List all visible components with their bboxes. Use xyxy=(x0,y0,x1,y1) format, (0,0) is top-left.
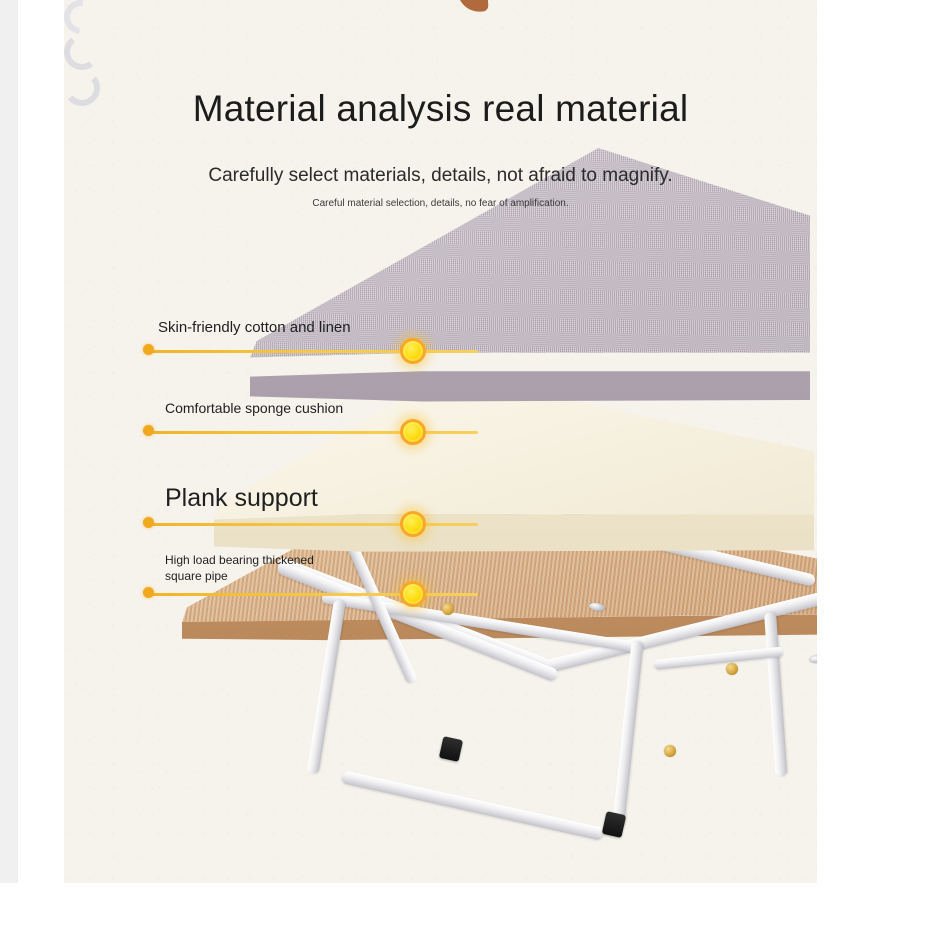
callout-marker-skin-friendly-cotton-and-linen[interactable] xyxy=(400,338,426,364)
callout-label-plank-support: Plank support xyxy=(165,482,318,516)
page-root: Material analysis real material Carefull… xyxy=(0,0,941,941)
callout-line-2 xyxy=(148,431,478,434)
callout-line-4 xyxy=(148,593,478,596)
callout-label-comfortable-sponge-cushion: Comfortable sponge cushion xyxy=(165,399,343,418)
callout-start-dot-4 xyxy=(143,587,154,598)
callout-start-dot-2 xyxy=(143,425,154,436)
callout-line-1 xyxy=(148,350,478,353)
callout-marker-plank-support[interactable] xyxy=(400,511,426,537)
callout-marker-high-load-bearing-thickened-square-pipe[interactable] xyxy=(400,581,426,607)
left-gutter-strip xyxy=(0,0,18,883)
callout-line-3 xyxy=(148,523,478,526)
callout-start-dot-3 xyxy=(143,517,154,528)
content-panel: Material analysis real material Carefull… xyxy=(64,0,817,883)
callout-start-dot-1 xyxy=(143,344,154,355)
callout-marker-comfortable-sponge-cushion[interactable] xyxy=(400,419,426,445)
callout-label-skin-friendly-cotton-and-linen: Skin-friendly cotton and linen xyxy=(158,318,351,338)
callout-layer: Skin-friendly cotton and linen Comfortab… xyxy=(64,0,817,883)
callout-label-high-load-bearing-thickened-square-pipe: High load bearing thickened square pipe xyxy=(165,552,314,584)
